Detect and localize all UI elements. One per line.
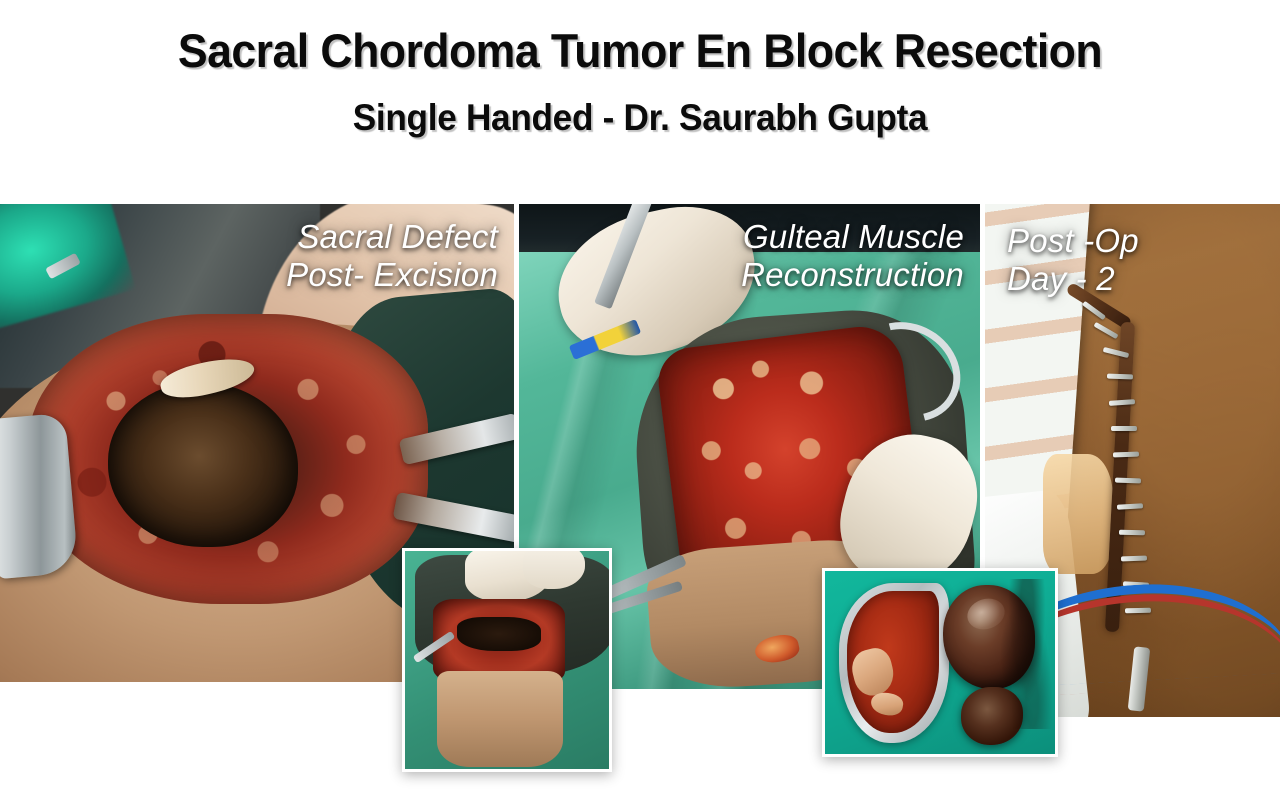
- blood-smear: [1001, 579, 1053, 729]
- resection-cavity: [108, 382, 298, 547]
- panel-caption-gluteal-reconstruction: Gulteal Muscle Reconstruction: [741, 218, 964, 293]
- surgical-staple: [1119, 530, 1145, 535]
- surgical-staple: [1107, 374, 1133, 380]
- surgical-staple: [1115, 478, 1141, 484]
- page-subtitle: Single Handed - Dr. Saurabh Gupta: [32, 97, 1248, 139]
- necrotic-tissue: [457, 617, 541, 651]
- surgical-retractor-left: [0, 413, 79, 580]
- surgical-staple: [1113, 452, 1139, 458]
- title-block: Sacral Chordoma Tumor En Block Resection…: [0, 0, 1280, 204]
- inset-photo-wound-closeup: [402, 548, 612, 772]
- surgical-staple: [1111, 426, 1137, 431]
- inset-photo-specimen-tray: [822, 568, 1058, 757]
- gauze-dressing: [1043, 454, 1113, 574]
- panel-caption-sacral-defect: Sacral Defect Post- Excision: [286, 218, 498, 293]
- page-title: Sacral Chordoma Tumor En Block Resection: [32, 26, 1248, 77]
- patient-skin-inset: [437, 671, 563, 767]
- panel-caption-post-op: Post -Op Day - 2: [1007, 222, 1139, 297]
- surgical-staple: [1121, 556, 1147, 562]
